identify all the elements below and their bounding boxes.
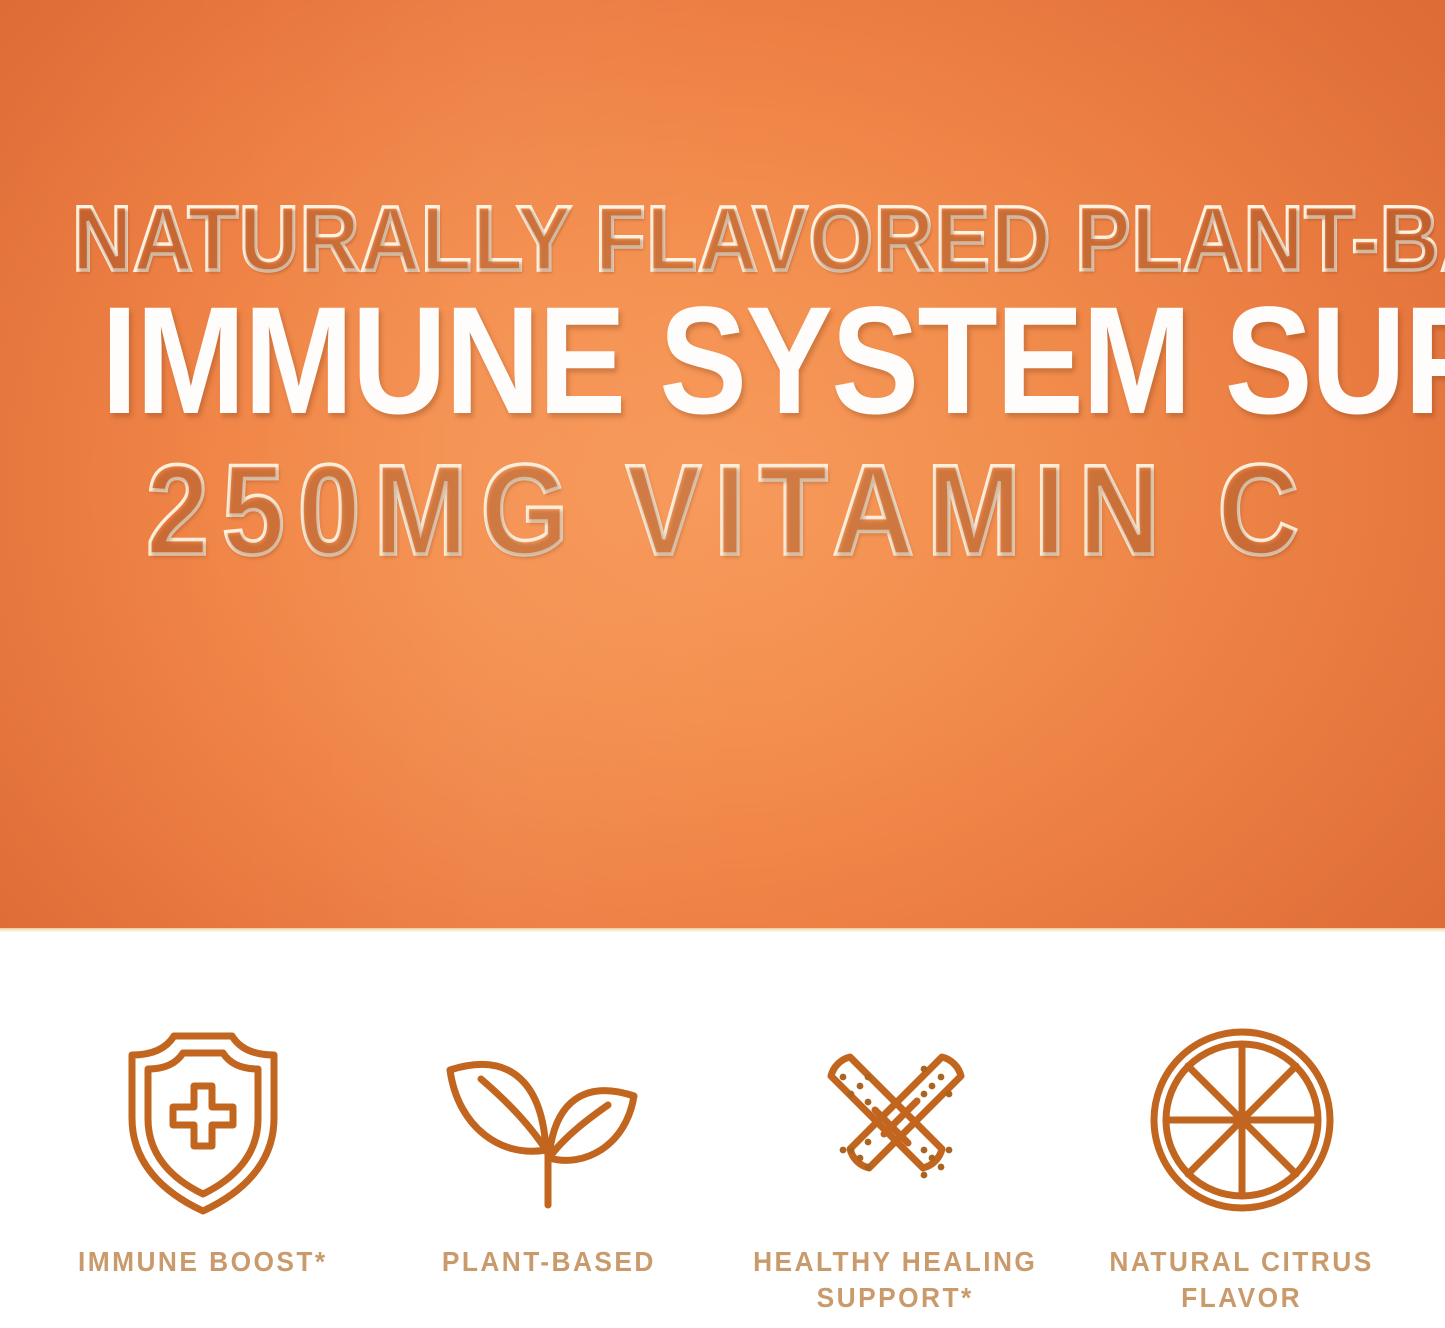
benefit-item-plant-based: PLANT-BASED	[380, 1020, 718, 1280]
benefit-label: PLANT-BASED	[442, 1244, 656, 1280]
headline-block: NATURALLY FLAVORED PLANT-BASED IMMUNE SY…	[0, 0, 1445, 574]
shield-plus-icon	[122, 1020, 284, 1220]
headline-eyebrow: NATURALLY FLAVORED PLANT-BASED	[72, 196, 1373, 283]
benefit-item-healthy-healing: HEALTHY HEALING SUPPORT*	[727, 1020, 1065, 1317]
benefit-item-immune-boost: IMMUNE BOOST*	[34, 1020, 372, 1280]
citrus-slice-icon	[1144, 1020, 1340, 1220]
benefits-row: IMMUNE BOOST* PLANT-BASED	[0, 1020, 1445, 1328]
benefit-label: HEALTHY HEALING SUPPORT*	[754, 1244, 1038, 1317]
crossed-bandages-icon	[796, 1020, 996, 1220]
sprout-leaf-icon	[436, 1020, 662, 1220]
hero-bottom-edge-divider	[0, 928, 1445, 932]
benefit-label: NATURAL CITRUS FLAVOR	[1110, 1244, 1374, 1317]
benefit-label: IMMUNE BOOST*	[78, 1244, 328, 1280]
benefit-item-natural-citrus: NATURAL CITRUS FLAVOR	[1073, 1020, 1411, 1317]
headline-dosage: 250MG VITAMIN C	[87, 448, 1359, 573]
product-marketing-banner: NATURALLY FLAVORED PLANT-BASED IMMUNE SY…	[0, 0, 1445, 1328]
headline-primary: IMMUNE SYSTEM SUPPORT	[101, 291, 1344, 432]
